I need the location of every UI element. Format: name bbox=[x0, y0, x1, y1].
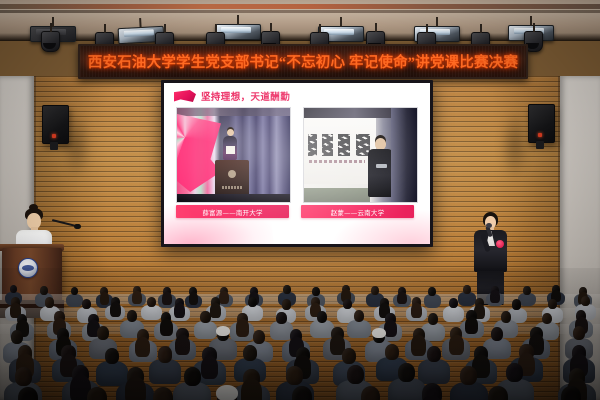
light-stem bbox=[480, 24, 482, 33]
slide-title: 坚持理想，天道酬勤 bbox=[201, 89, 290, 103]
wall-speaker-left bbox=[42, 105, 69, 144]
audience-member-long-hair bbox=[411, 335, 426, 355]
light-stem bbox=[164, 24, 166, 33]
audience-member-head bbox=[463, 285, 471, 294]
audience-member-long-hair bbox=[100, 292, 110, 305]
audience-member-long-hair bbox=[397, 292, 407, 305]
audience-member-head bbox=[342, 348, 356, 364]
audience-member-shoulders bbox=[458, 292, 476, 306]
slide-photo-podium-speaker bbox=[176, 107, 291, 203]
audience-member-long-hair bbox=[162, 292, 172, 305]
photo-right-backdrop bbox=[391, 108, 417, 202]
light-stem bbox=[533, 23, 535, 32]
red-corsage-icon bbox=[496, 240, 504, 248]
light-stem bbox=[215, 24, 217, 33]
slide-caption-left: 薛富源——南开大学 bbox=[176, 205, 289, 218]
audience-member-long-hair bbox=[219, 291, 229, 304]
audience-member-long-hair bbox=[110, 302, 121, 317]
slide-caption-right: 赵蒙——云南大学 bbox=[301, 205, 414, 218]
audience-member-shoulders bbox=[418, 359, 450, 384]
audience-member-shoulders bbox=[424, 294, 442, 308]
speaker-led-icon bbox=[538, 133, 542, 137]
audience-member-shoulders bbox=[347, 320, 371, 338]
speaker-led-icon bbox=[52, 134, 56, 138]
slide-caption-right-text: 赵蒙——云南大学 bbox=[331, 207, 385, 217]
photo-person-body bbox=[368, 149, 393, 197]
slide-decoration-bottom-left bbox=[164, 196, 275, 244]
audience-member-head bbox=[361, 386, 381, 400]
audience-member-head bbox=[127, 310, 138, 322]
audience-member-head bbox=[398, 363, 415, 382]
audience-area bbox=[0, 268, 600, 400]
audience-member-head bbox=[158, 346, 172, 362]
audience-member-head bbox=[40, 286, 48, 295]
banner-text: 西安石油大学学生党支部书记“不忘初心 牢记使命”讲党课比赛决赛 bbox=[88, 51, 518, 72]
audience-member-long-hair bbox=[465, 317, 478, 334]
audience-member-head bbox=[512, 299, 521, 309]
audience-member-head bbox=[248, 297, 257, 307]
audience-member-head bbox=[15, 367, 32, 386]
photo-calligraphy-text bbox=[308, 134, 372, 156]
microphone-icon bbox=[74, 224, 81, 229]
audience-member-shoulders bbox=[310, 320, 334, 338]
presentation-slide: 坚持理想，天道酬勤 bbox=[164, 83, 430, 244]
light-yoke bbox=[436, 17, 438, 27]
audience-member-long-hair bbox=[449, 335, 464, 355]
audience-member-head bbox=[87, 387, 107, 400]
light-stem bbox=[375, 23, 377, 32]
audience-member-long-hair bbox=[175, 335, 190, 355]
audience-member-head bbox=[343, 299, 352, 309]
audience-member-shoulders bbox=[66, 294, 84, 308]
audience-member-long-hair bbox=[125, 377, 146, 400]
light-stem bbox=[426, 24, 428, 33]
audience-member-head bbox=[460, 366, 477, 385]
audience-member-head bbox=[147, 297, 156, 307]
ceiling-pipe bbox=[0, 4, 600, 9]
audience-member-head bbox=[18, 387, 38, 400]
light-can bbox=[41, 31, 60, 52]
audience-member-head bbox=[200, 311, 211, 323]
speaker-mount bbox=[50, 142, 58, 150]
audience-member-head bbox=[523, 286, 531, 295]
slide-header: 坚持理想，天道酬勤 bbox=[174, 89, 290, 103]
wall-speaker-right bbox=[528, 104, 555, 143]
audience-member-head bbox=[581, 296, 590, 306]
slide-caption-left-text: 薛富源——南开大学 bbox=[202, 207, 262, 217]
light-stem bbox=[104, 24, 106, 33]
audience-member-head bbox=[286, 366, 303, 385]
light-lens bbox=[221, 27, 251, 33]
slide-photo-standing-speaker bbox=[303, 107, 418, 203]
audience-member-long-hair bbox=[201, 356, 219, 379]
audience-member-long-hair bbox=[411, 303, 422, 318]
audience-member-head bbox=[317, 311, 328, 323]
audience-member-head bbox=[282, 299, 291, 309]
audience-member-shoulders bbox=[443, 306, 463, 322]
audience-member-head bbox=[488, 386, 508, 400]
audience-member-head bbox=[11, 330, 23, 344]
audience-member-head bbox=[385, 344, 399, 360]
audience-member-long-hair bbox=[490, 290, 500, 303]
auditorium-photo: 西安石油大学学生党支部书记“不忘初心 牢记使命”讲党课比赛决赛 坚持理想，天道酬… bbox=[0, 0, 600, 400]
light-front bbox=[43, 43, 56, 49]
light-yoke bbox=[52, 17, 54, 27]
photo-podium-text bbox=[222, 186, 242, 189]
slide-caption-row: 薛富源——南开大学 赵蒙——云南大学 bbox=[176, 205, 418, 218]
audience-member-head bbox=[491, 327, 503, 341]
audience-member-shoulders bbox=[149, 359, 181, 384]
audience-member-long-hair bbox=[210, 303, 221, 318]
photo-person-jacket-logo bbox=[376, 164, 387, 168]
photo-foreground-plants bbox=[304, 188, 370, 202]
audience-member-long-hair bbox=[135, 337, 150, 357]
light-stem bbox=[270, 23, 272, 32]
audience-member-head bbox=[312, 287, 320, 296]
ceiling-pipe-secondary bbox=[0, 10, 600, 13]
audience-member-shoulders bbox=[194, 321, 218, 339]
audience-member-head bbox=[184, 367, 201, 386]
photo-backdrop-top bbox=[177, 108, 290, 116]
audience-member-cap bbox=[372, 328, 386, 338]
projection-screen: 坚持理想，天道酬勤 bbox=[161, 80, 433, 247]
event-banner: 西安石油大学学生党支部书记“不忘初心 牢记使命”讲党课比赛决赛 bbox=[78, 44, 528, 79]
audience-member-cap bbox=[216, 326, 230, 336]
light-lens bbox=[124, 29, 154, 37]
flag-icon bbox=[174, 90, 196, 102]
audience-member-long-hair bbox=[236, 319, 249, 336]
audience-member-shoulders bbox=[96, 361, 128, 386]
audience-member-long-hair bbox=[241, 379, 262, 400]
audience-member-head bbox=[548, 299, 557, 309]
audience-member-head bbox=[449, 298, 458, 308]
audience-member-head bbox=[506, 363, 523, 382]
photo-podium bbox=[215, 160, 249, 194]
audience-member-head bbox=[276, 312, 287, 324]
audience-member-head bbox=[371, 286, 379, 295]
photo-calligraphy-subtitle bbox=[309, 160, 365, 163]
audience-member-long-hair bbox=[189, 292, 199, 305]
slide-photo-row bbox=[176, 107, 418, 203]
audience-member-head bbox=[253, 330, 265, 344]
audience-member-head bbox=[347, 365, 364, 384]
audience-member-head bbox=[243, 345, 257, 361]
photo-person-notes bbox=[226, 146, 235, 154]
audience-member-cap bbox=[216, 385, 238, 400]
photo-person-head bbox=[227, 129, 234, 136]
speaker-shadow-right bbox=[500, 110, 530, 180]
light-yoke bbox=[340, 17, 342, 27]
audience-member-long-hair bbox=[160, 319, 173, 336]
speaker-mount bbox=[536, 141, 544, 149]
audience-member-head bbox=[105, 348, 119, 364]
light-stem bbox=[319, 24, 321, 33]
audience-member-head bbox=[97, 326, 109, 340]
audience-member-head bbox=[45, 297, 54, 307]
audience-member-head bbox=[153, 387, 173, 400]
audience-member-head bbox=[428, 287, 436, 296]
microphone-head-icon bbox=[486, 223, 492, 228]
audience-member-head bbox=[354, 310, 365, 322]
photo-podium-emblem bbox=[228, 170, 236, 178]
photo-floor bbox=[177, 194, 290, 202]
audience-member-head bbox=[501, 311, 512, 323]
audience-member-head bbox=[427, 346, 441, 362]
light-stem bbox=[50, 23, 52, 32]
light-yoke bbox=[237, 15, 239, 25]
audience-member-long-hair bbox=[174, 303, 185, 318]
audience-member-head bbox=[283, 285, 291, 294]
audience-member-shoulders bbox=[141, 305, 161, 321]
audience-member-long-hair bbox=[132, 291, 142, 304]
par-can-light bbox=[41, 31, 60, 52]
